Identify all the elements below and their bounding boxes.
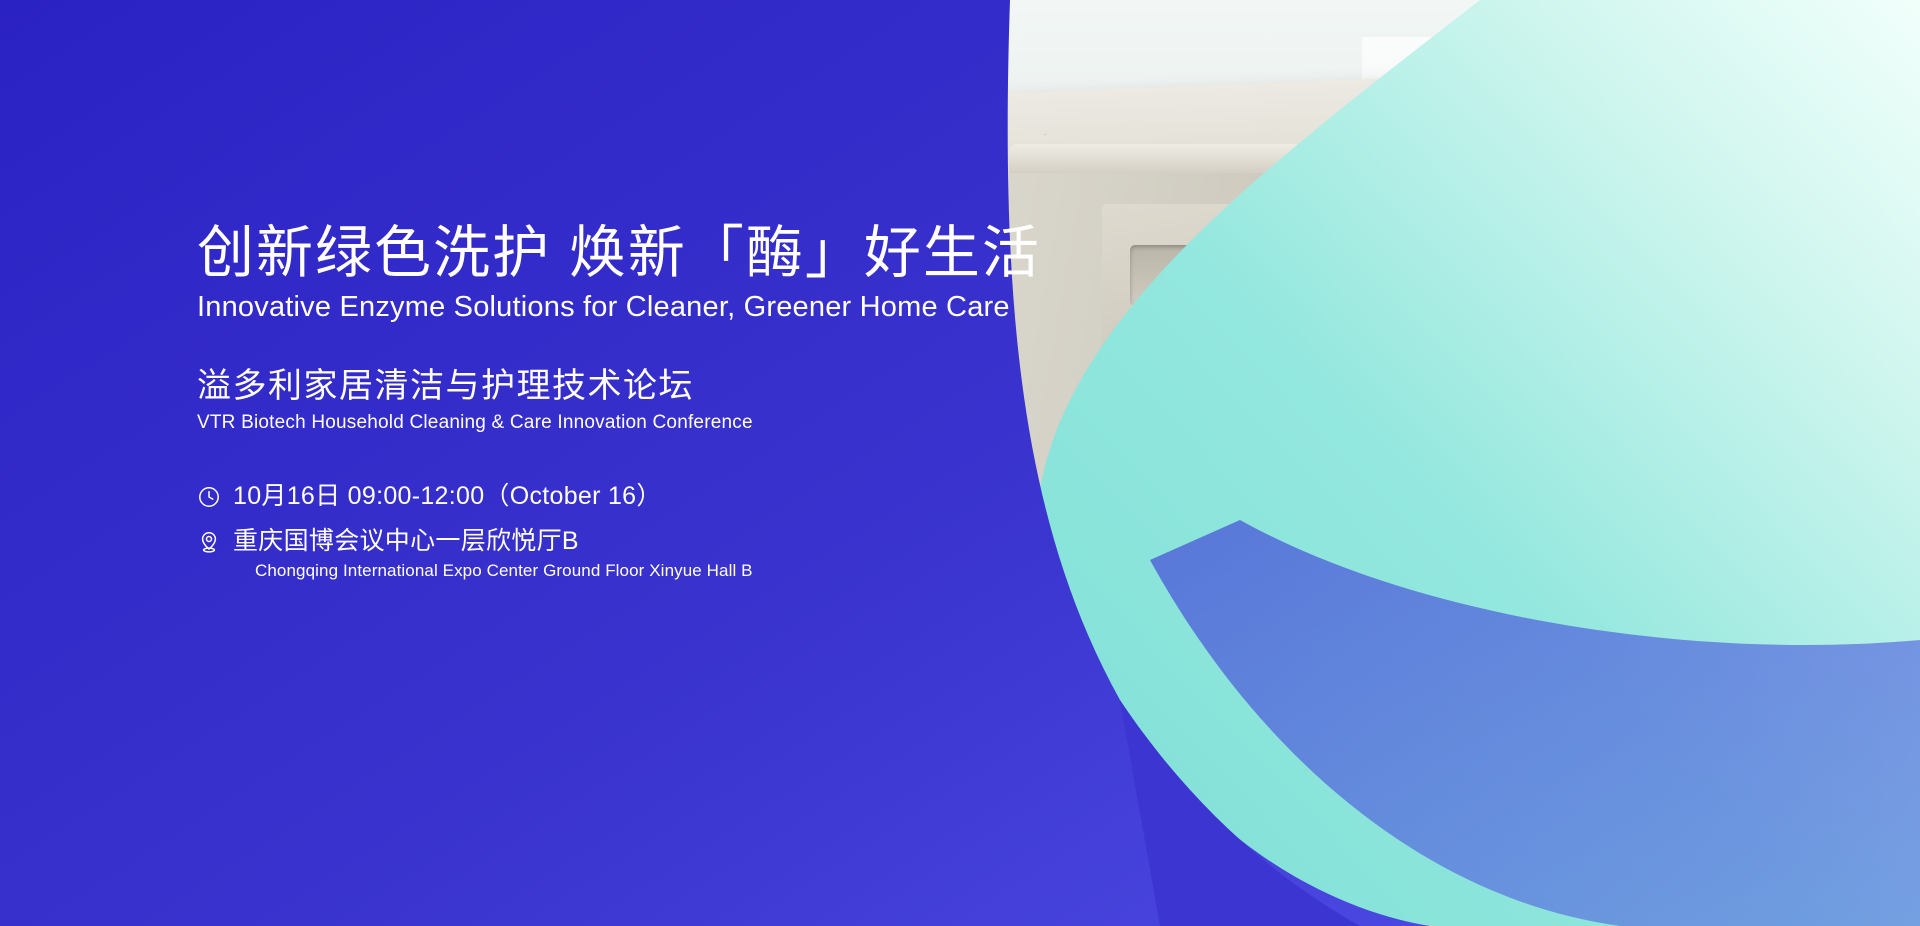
clock-icon <box>197 485 221 509</box>
event-location-text-chinese: 重庆国博会议中心一层欣悦厅B <box>233 526 753 557</box>
photo-scene <box>990 0 1920 926</box>
subheadline-english: VTR Biotech Household Cleaning & Care In… <box>197 412 1057 435</box>
hero-photo <box>990 0 1920 926</box>
event-meta: 10月16日 09:00-12:00（October 16） 重庆国博会议中心一… <box>197 481 1057 583</box>
conference-banner: 创新绿色洗护 焕新「酶」好生活 Innovative Enzyme Soluti… <box>0 0 1920 926</box>
washing-machine-detergent-drawer <box>1130 245 1381 305</box>
subheadline-chinese: 溢多利家居清洁与护理技术论坛 <box>197 365 1057 408</box>
event-datetime-text: 10月16日 09:00-12:00（October 16） <box>233 481 662 512</box>
headline-chinese: 创新绿色洗护 焕新「酶」好生活 <box>197 222 1057 286</box>
banner-content: 创新绿色洗护 焕新「酶」好生活 Innovative Enzyme Soluti… <box>197 222 1057 597</box>
event-datetime-row: 10月16日 09:00-12:00（October 16） <box>197 481 1057 512</box>
event-location-row: 重庆国博会议中心一层欣悦厅B Chongqing International E… <box>197 526 1057 583</box>
event-location-text-english: Chongqing International Expo Center Grou… <box>255 559 753 583</box>
headline-english: Innovative Enzyme Solutions for Cleaner,… <box>197 290 1057 325</box>
location-pin-icon <box>197 530 221 554</box>
